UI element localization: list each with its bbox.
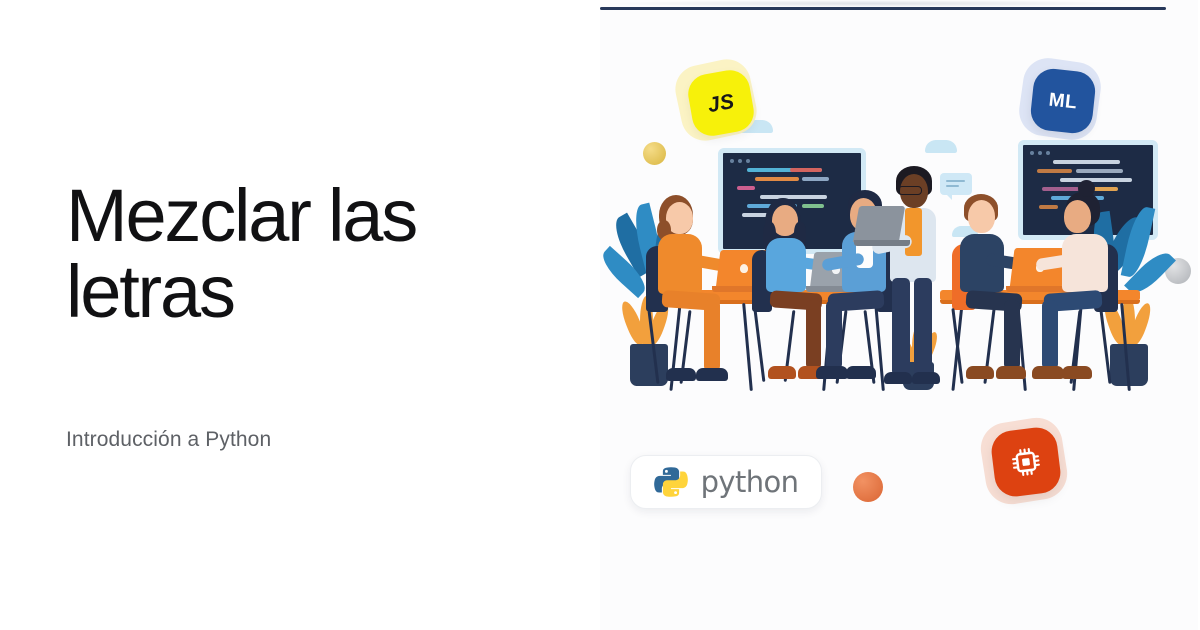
- python-logo-icon: [654, 465, 688, 499]
- cpu-chip-icon: [1007, 443, 1045, 481]
- machine-learning-badge: ML: [1029, 67, 1097, 135]
- chat-bubble-icon: [940, 173, 972, 195]
- cloud-icon: [925, 140, 957, 153]
- ground-shadow: [600, 0, 1142, 7]
- javascript-badge-label: JS: [706, 90, 736, 115]
- og-card: Mezclar las letras Introducción a Python…: [0, 0, 1200, 630]
- orange-sphere: [853, 472, 883, 502]
- gold-sphere: [643, 142, 666, 165]
- page-subtitle: Introducción a Python: [66, 428, 540, 452]
- code-window-dots: [1030, 151, 1146, 155]
- illustration-stage: JS ML: [600, 0, 1198, 630]
- code-window-dots: [730, 159, 854, 163]
- python-logo-pill: python: [630, 455, 822, 509]
- illustration-panel: JS ML: [600, 0, 1198, 630]
- office-scene: [600, 0, 1166, 10]
- python-wordmark: python: [701, 465, 799, 499]
- ground-line: [600, 7, 1166, 10]
- machine-learning-badge-label: ML: [1048, 90, 1078, 112]
- text-column: Mezclar las letras Introducción a Python: [0, 0, 600, 630]
- page-title: Mezclar las letras: [66, 178, 496, 330]
- chip-badge: [989, 425, 1063, 499]
